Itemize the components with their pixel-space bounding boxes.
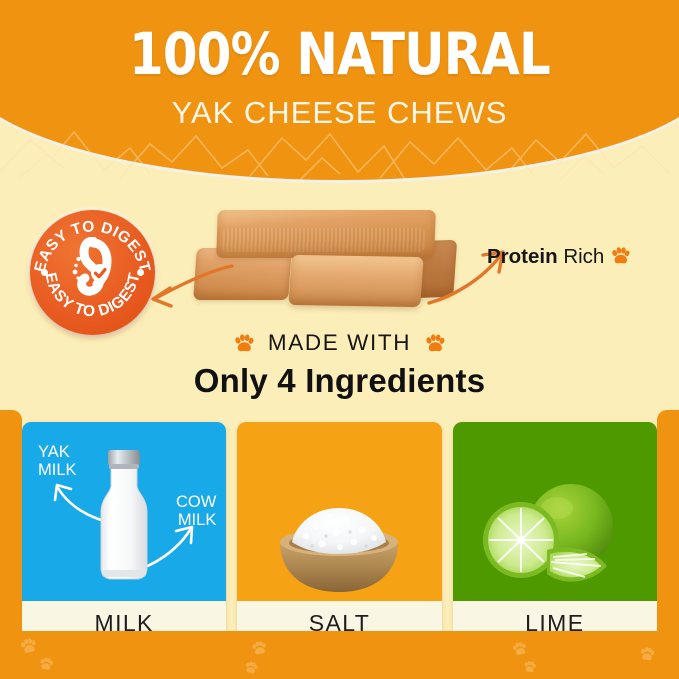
- yak-milk-line1: YAK: [38, 444, 77, 462]
- protein-word-bold: Protein: [487, 245, 558, 268]
- easy-to-digest-badge: EASY TO DIGEST EASY TO DIGEST: [30, 210, 155, 335]
- made-with-section: MADE WITH Only 4 Ingredients: [0, 330, 679, 400]
- paw-pattern-icon: [0, 631, 679, 679]
- yak-milk-annotation: YAK MILK: [38, 444, 77, 480]
- header-banner: 100% NATURAL YAK CHEESE CHEWS: [0, 0, 679, 185]
- salt-card-image: [237, 422, 441, 601]
- paw-icon: [610, 245, 631, 266]
- lime-fruit-icon: [475, 474, 635, 592]
- chew-bar-middle: [288, 255, 423, 307]
- ingredient-card-lime[interactable]: LIME: [453, 422, 657, 646]
- header-text-group: 100% NATURAL YAK CHEESE CHEWS: [0, 0, 679, 131]
- cow-milk-line1: COW: [176, 494, 216, 512]
- milk-card-image: YAK MILK COW MILK: [22, 422, 226, 601]
- ingredient-card-salt[interactable]: SALT: [237, 422, 441, 646]
- made-with-label: MADE WITH: [268, 330, 411, 356]
- infographic-page: 100% NATURAL YAK CHEESE CHEWS EASY TO DI…: [0, 0, 679, 679]
- ingredient-card-milk[interactable]: YAK MILK COW MILK: [22, 422, 226, 646]
- left-orange-edge: [0, 410, 22, 650]
- paw-icon-right: [424, 332, 446, 354]
- paw-icon-left: [233, 332, 255, 354]
- footer-band: [0, 631, 679, 679]
- page-title: 100% NATURAL: [48, 0, 632, 85]
- yak-milk-line2: MILK: [38, 462, 77, 480]
- chew-bar-top: [216, 210, 436, 258]
- made-with-line: MADE WITH: [0, 330, 679, 356]
- protein-rich-claim: Protein Rich: [487, 245, 631, 269]
- page-subtitle: YAK CHEESE CHEWS: [0, 85, 679, 131]
- salt-bowl-icon: [270, 502, 408, 594]
- lime-card-image: [453, 422, 657, 601]
- product-image-cheese-chews: [195, 200, 460, 320]
- right-orange-edge: [657, 410, 679, 650]
- protein-word-regular: Rich: [563, 245, 604, 268]
- milk-bottle-icon: [93, 442, 155, 582]
- ingredient-cards: YAK MILK COW MILK: [22, 422, 657, 646]
- stomach-check-icon: [63, 237, 123, 307]
- ingredients-headline: Only 4 Ingredients: [0, 362, 679, 400]
